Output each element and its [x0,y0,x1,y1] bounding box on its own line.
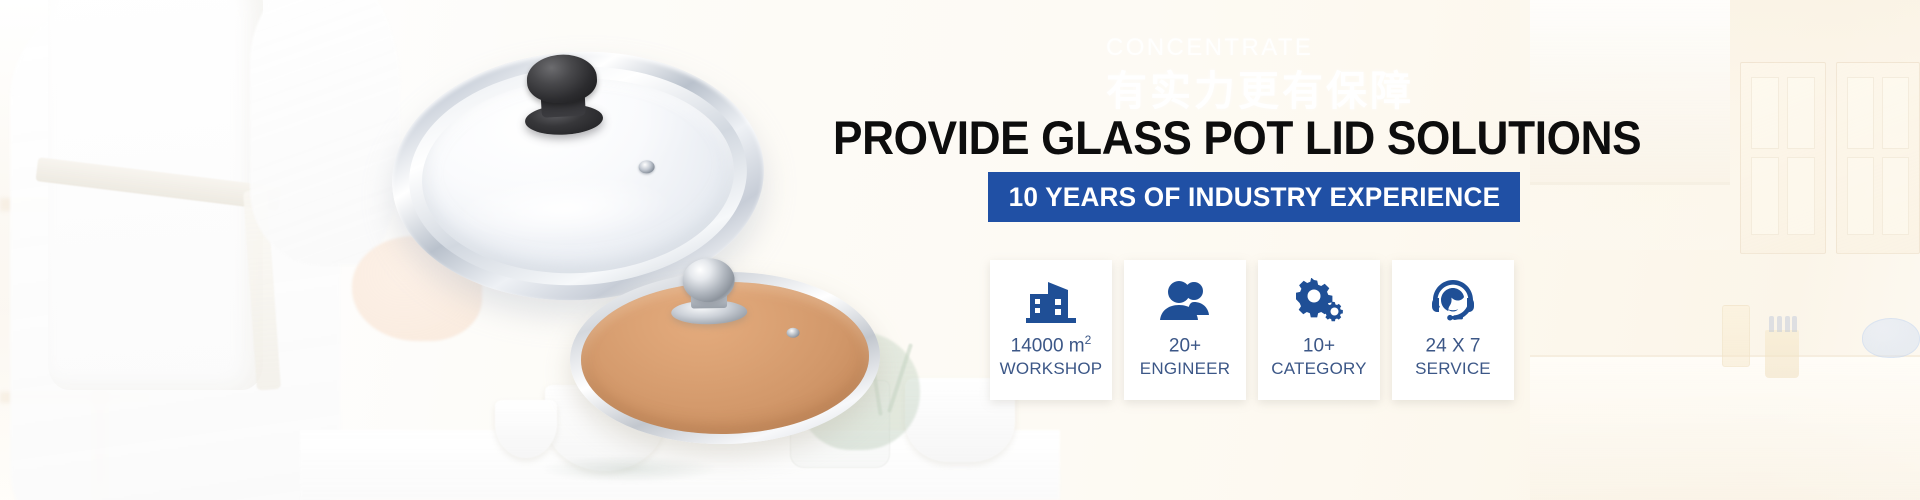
feature-label: WORKSHOP [1000,359,1103,379]
gears-icon [1292,276,1346,326]
feature-card-engineer[interactable]: 20+ ENGINEER [1124,260,1246,400]
pasta-jar [1722,305,1750,367]
feature-value: 24 X 7 [1426,334,1481,357]
feature-label: ENGINEER [1140,359,1230,379]
headset-support-icon [1426,276,1480,326]
knife-block [1765,330,1799,378]
promotional-banner: CONCENTRATE 有实力更有保障 PROVIDE GLASS POT LI… [0,0,1920,500]
page-title: PROVIDE GLASS POT LID SOLUTIONS [833,110,1491,165]
feature-card-list: 14000 m2 WORKSHOP 20+ ENGINEER [990,260,1514,400]
feature-value: 14000 m2 [1011,334,1092,357]
factory-building-icon [1024,276,1078,326]
two-people-icon [1158,276,1212,326]
steam-vent-icon [786,327,799,337]
experience-badge: 10 YEARS OF INDUSTRY EXPERIENCE [988,172,1520,222]
blue-bowl [1862,318,1920,358]
chef-arm [250,0,400,265]
black-lid-knob [518,53,608,135]
feature-label: CATEGORY [1271,359,1366,379]
feature-card-workshop[interactable]: 14000 m2 WORKSHOP [990,260,1112,400]
feature-card-category[interactable]: 10+ CATEGORY [1258,260,1380,400]
amber-glass-pot-lid [569,269,882,446]
feature-label: SERVICE [1415,359,1491,379]
chrome-lid-knob [668,258,749,321]
scattered-herbs [540,455,720,483]
kitchen-counter [1530,355,1920,500]
wall-cabinet [1836,62,1920,254]
feature-value: 20+ [1169,334,1201,357]
wall-cabinet [1740,62,1826,254]
feature-value: 10+ [1303,334,1335,357]
feature-card-service[interactable]: 24 X 7 SERVICE [1392,260,1514,400]
experience-badge-label: 10 YEARS OF INDUSTRY EXPERIENCE [1008,182,1500,213]
